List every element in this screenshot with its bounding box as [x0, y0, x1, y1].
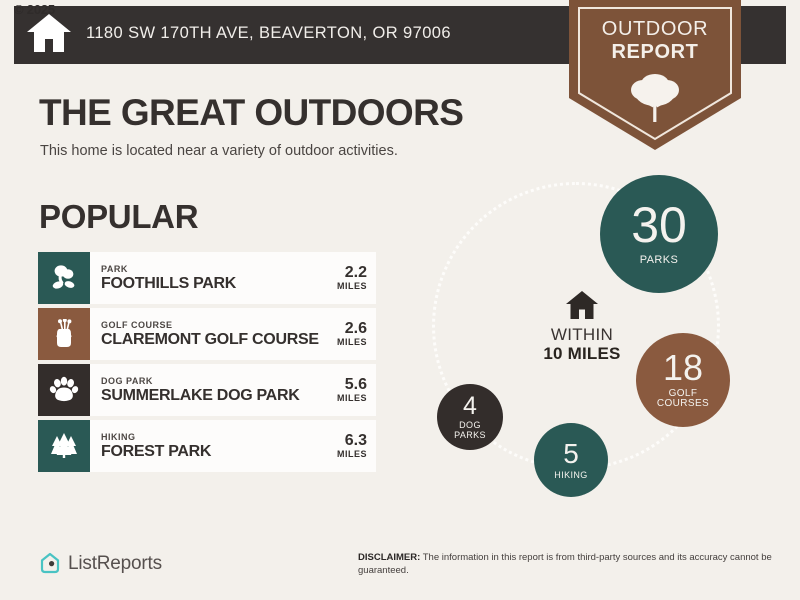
bubble-parks: 30 PARKS — [600, 175, 718, 293]
bubble-label-line-2: PARKS — [454, 431, 486, 440]
distance-unit: MILES — [337, 449, 367, 460]
bubble-label: PARKS — [640, 255, 678, 267]
listreports-logo[interactable]: ListReports — [39, 552, 162, 575]
distance-unit: MILES — [337, 281, 367, 292]
bubble-golf-courses: 18 GOLF COURSES — [636, 333, 730, 427]
badge-line-2: REPORT — [569, 41, 741, 64]
distance-unit: MILES — [337, 393, 367, 404]
distance-unit: MILES — [337, 337, 367, 348]
list-item-name: CLAREMONT GOLF COURSE — [101, 331, 319, 349]
popular-list: PARK FOOTHILLS PARK 2.2 MILES — [38, 252, 376, 476]
list-item-category: HIKING — [101, 432, 211, 443]
list-item-body: PARK FOOTHILLS PARK 2.2 MILES — [90, 252, 376, 304]
bubble-label: DOG PARKS — [454, 421, 486, 440]
center-label-line-2: 10 MILES — [522, 344, 642, 363]
bubble-label-line-2: COURSES — [657, 399, 709, 410]
bubble-label: GOLF COURSES — [657, 389, 709, 410]
paw-print-icon — [38, 364, 90, 416]
distance-value: 6.3 — [337, 432, 367, 449]
disclaimer: DISCLAIMER: The information in this repo… — [358, 551, 778, 577]
golf-bag-icon — [38, 308, 90, 360]
list-item-distance: 6.3 MILES — [331, 432, 367, 460]
list-item-category: GOLF COURSE — [101, 320, 319, 331]
listreports-house-icon — [39, 552, 68, 575]
bubble-dog-parks: 4 DOG PARKS — [437, 384, 503, 450]
list-item-body: DOG PARK SUMMERLAKE DOG PARK 5.6 MILES — [90, 364, 376, 416]
list-item-names: GOLF COURSE CLAREMONT GOLF COURSE — [101, 320, 319, 349]
amenities-bubble-chart: 30 PARKS 18 GOLF COURSES 4 DOG PARKS 5 H… — [410, 165, 790, 525]
list-item-body: GOLF COURSE CLAREMONT GOLF COURSE 2.6 MI… — [90, 308, 376, 360]
list-item-category: PARK — [101, 264, 236, 275]
house-icon — [522, 290, 642, 320]
badge-line-1: OUTDOOR — [569, 18, 741, 41]
distance-value: 2.2 — [337, 264, 367, 281]
property-address: 1180 SW 170TH AVE, BEAVERTON, OR 97006 — [86, 24, 451, 43]
page-subtitle: This home is located near a variety of o… — [40, 143, 398, 159]
list-item-name: SUMMERLAKE DOG PARK — [101, 387, 299, 405]
park-tree-icon — [38, 252, 90, 304]
list-item-names: HIKING FOREST PARK — [101, 432, 211, 461]
list-item-name: FOREST PARK — [101, 443, 211, 461]
list-item-names: PARK FOOTHILLS PARK — [101, 264, 236, 293]
distance-value: 5.6 — [337, 376, 367, 393]
list-item-names: DOG PARK SUMMERLAKE DOG PARK — [101, 376, 299, 405]
pine-trees-icon — [38, 420, 90, 472]
list-item-category: DOG PARK — [101, 376, 299, 387]
bubble-value: 30 — [631, 200, 687, 250]
house-icon — [26, 12, 72, 54]
bubble-value: 4 — [463, 394, 477, 419]
disclaimer-text: The information in this report is from t… — [358, 552, 772, 576]
outdoor-report-page: © 2025 1180 SW 170TH AVE, BEAVERTON, OR … — [0, 0, 800, 600]
list-item[interactable]: GOLF COURSE CLAREMONT GOLF COURSE 2.6 MI… — [38, 308, 376, 360]
page-title: THE GREAT OUTDOORS — [39, 92, 463, 134]
badge-text: OUTDOOR REPORT — [569, 18, 741, 64]
bubble-hiking: 5 HIKING — [534, 423, 608, 497]
list-item[interactable]: PARK FOOTHILLS PARK 2.2 MILES — [38, 252, 376, 304]
outdoor-report-badge: OUTDOOR REPORT — [569, 0, 741, 150]
bubble-label: HIKING — [554, 471, 587, 480]
listreports-wordmark: ListReports — [68, 553, 162, 575]
list-item-distance: 5.6 MILES — [331, 376, 367, 404]
distance-value: 2.6 — [337, 320, 367, 337]
list-item-distance: 2.2 MILES — [331, 264, 367, 292]
popular-heading: POPULAR — [39, 198, 198, 236]
bubble-value: 5 — [563, 440, 579, 468]
list-item[interactable]: DOG PARK SUMMERLAKE DOG PARK 5.6 MILES — [38, 364, 376, 416]
copyright-text: © 2025 — [14, 2, 55, 17]
list-item-distance: 2.6 MILES — [331, 320, 367, 348]
list-item-name: FOOTHILLS PARK — [101, 275, 236, 293]
bubble-value: 18 — [663, 350, 703, 386]
list-item[interactable]: HIKING FOREST PARK 6.3 MILES — [38, 420, 376, 472]
list-item-body: HIKING FOREST PARK 6.3 MILES — [90, 420, 376, 472]
center-label-line-1: WITHIN — [522, 325, 642, 344]
disclaimer-label: DISCLAIMER: — [358, 552, 420, 563]
chart-center-label: WITHIN 10 MILES — [522, 290, 642, 363]
